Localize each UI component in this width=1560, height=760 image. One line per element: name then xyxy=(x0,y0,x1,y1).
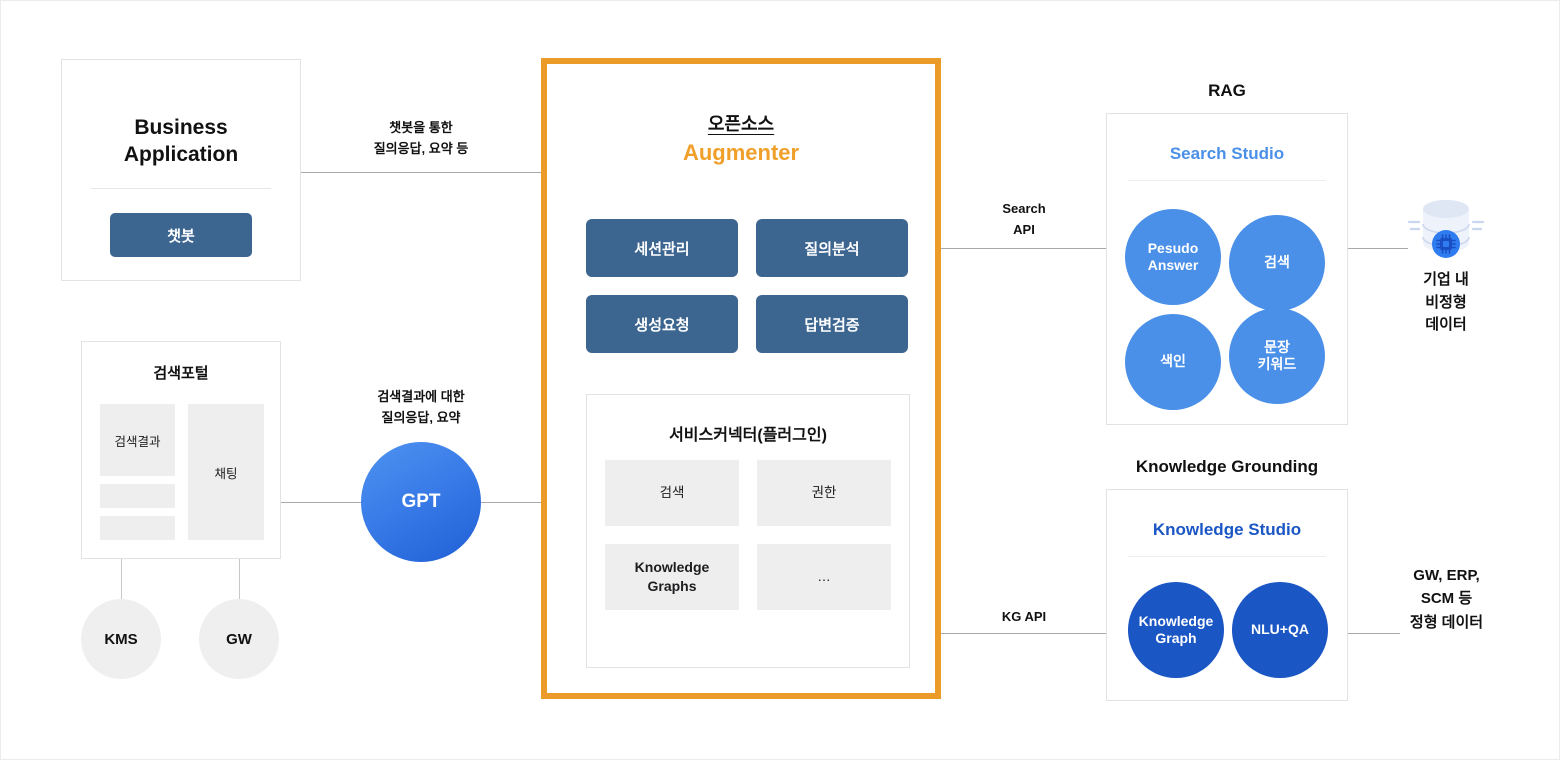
augmenter-heading: 오픈소스 Augmenter xyxy=(547,110,935,166)
search-studio-divider xyxy=(1128,180,1326,181)
business-application-title: Business Application xyxy=(124,115,238,169)
business-application-title-line1: Business xyxy=(134,116,227,139)
service-connector-panel: 서비스커넥터(플러그인) 검색 권한 KnowledgeGraphs … xyxy=(586,394,910,668)
augmenter-panel: 오픈소스 Augmenter 세션관리 질의분석 생성요청 답변검증 서비스커넥… xyxy=(541,58,941,699)
knowledge-grounding-section-title: Knowledge Grounding xyxy=(1106,457,1348,477)
edge-label-search-api: SearchAPI xyxy=(959,199,1089,241)
business-application-card: Business Application 챗봇 xyxy=(61,59,301,281)
augmenter-title-en: Augmenter xyxy=(547,140,935,166)
structured-data-label: GW, ERP,SCM 등정형 데이터 xyxy=(1379,564,1514,634)
edge-searchstudio-to-unstructured xyxy=(1348,248,1408,249)
search-portal-card: 검색포털 검색결과 채팅 xyxy=(81,341,281,559)
node-kms-label: KMS xyxy=(104,631,137,648)
augmenter-tile-query-analysis[interactable]: 질의분석 xyxy=(756,219,908,277)
augmenter-tile-answer-verification[interactable]: 답변검증 xyxy=(756,295,908,353)
circle-knowledge-graph[interactable]: KnowledgeGraph xyxy=(1128,582,1224,678)
knowledge-studio-title: Knowledge Studio xyxy=(1107,520,1347,540)
augmenter-tile-generation-request[interactable]: 생성요청 xyxy=(586,295,738,353)
edge-portal-to-gpt xyxy=(281,502,363,503)
search-portal-layout: 검색결과 채팅 xyxy=(100,404,264,538)
circle-pesudo-answer[interactable]: PesudoAnswer xyxy=(1125,209,1221,305)
portal-chat-label: 채팅 xyxy=(188,463,264,482)
augmenter-tile-grid: 세션관리 질의분석 생성요청 답변검증 xyxy=(586,219,908,353)
node-gw-label: GW xyxy=(226,631,252,648)
service-connector-title: 서비스커넥터(플러그인) xyxy=(587,421,909,445)
portal-search-results-label: 검색결과 xyxy=(100,431,175,450)
circle-sentence-keyword[interactable]: 문장키워드 xyxy=(1229,308,1325,404)
diagram-canvas: Business Application 챗봇 챗봇을 통한질의응답, 요약 등… xyxy=(0,0,1560,760)
portal-placeholder-block-2 xyxy=(100,516,175,540)
connector-tile-search[interactable]: 검색 xyxy=(605,460,739,526)
edge-bizapp-to-augmenter xyxy=(301,172,541,173)
augmenter-title-ko: 오픈소스 xyxy=(547,110,935,136)
connector-tile-knowledge-graphs[interactable]: KnowledgeGraphs xyxy=(605,544,739,610)
search-studio-circle-group: PesudoAnswer 검색 색인 문장키워드 xyxy=(1125,209,1331,417)
edge-portal-to-kms xyxy=(121,559,122,601)
edge-label-search-flow: 검색결과에 대한질의응답, 요약 xyxy=(341,387,501,429)
business-application-title-line2: Application xyxy=(124,143,238,166)
portal-chat-block: 채팅 xyxy=(188,404,264,540)
edge-label-chatbot-flow: 챗봇을 통한질의응답, 요약 등 xyxy=(341,118,501,160)
edge-augmenter-to-searchstudio xyxy=(941,248,1107,249)
service-connector-tile-grid: 검색 권한 KnowledgeGraphs … xyxy=(605,460,891,610)
edge-augmenter-to-knowledgestudio xyxy=(941,633,1107,634)
connector-tile-more[interactable]: … xyxy=(757,544,891,610)
edge-gpt-to-augmenter xyxy=(479,502,541,503)
circle-nlu-qa[interactable]: NLU+QA xyxy=(1232,582,1328,678)
search-studio-title: Search Studio xyxy=(1107,144,1347,164)
unstructured-data-label: 기업 내비정형데이터 xyxy=(1386,269,1506,337)
node-kms: KMS xyxy=(81,599,161,679)
augmenter-tile-session[interactable]: 세션관리 xyxy=(586,219,738,277)
card-divider xyxy=(91,188,271,189)
search-portal-title: 검색포털 xyxy=(82,362,280,383)
node-gw: GW xyxy=(199,599,279,679)
edge-label-kg-api: KG API xyxy=(959,607,1089,628)
rag-section-title: RAG xyxy=(1106,81,1348,101)
portal-search-results-block: 검색결과 xyxy=(100,404,175,476)
circle-search[interactable]: 검색 xyxy=(1229,215,1325,311)
node-gpt-label: GPT xyxy=(401,491,440,513)
search-studio-card: Search Studio PesudoAnswer 검색 색인 문장키워드 xyxy=(1106,113,1348,425)
circle-indexing[interactable]: 색인 xyxy=(1125,314,1221,410)
knowledge-studio-card: Knowledge Studio KnowledgeGraph NLU+QA xyxy=(1106,489,1348,701)
knowledge-studio-divider xyxy=(1128,556,1326,557)
database-icon xyxy=(1405,197,1487,267)
connector-tile-permission[interactable]: 권한 xyxy=(757,460,891,526)
edge-portal-to-gw xyxy=(239,559,240,601)
knowledge-studio-circle-group: KnowledgeGraph NLU+QA xyxy=(1128,582,1328,682)
portal-placeholder-block-1 xyxy=(100,484,175,508)
chatbot-button[interactable]: 챗봇 xyxy=(110,213,252,257)
node-gpt: GPT xyxy=(361,442,481,562)
